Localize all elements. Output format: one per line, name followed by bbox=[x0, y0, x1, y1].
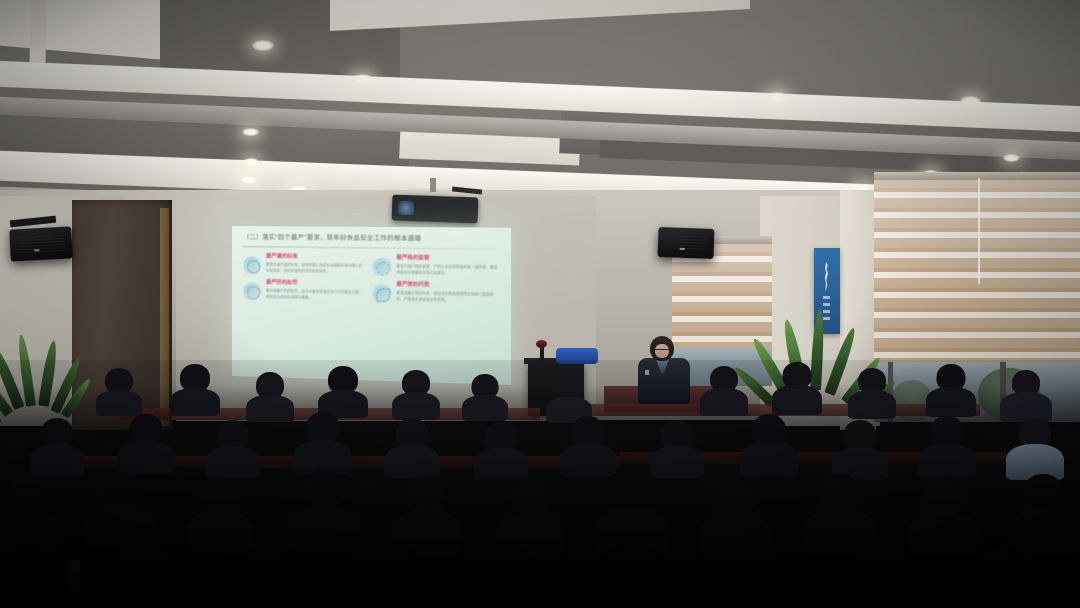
glasses-icon bbox=[655, 349, 669, 352]
audience-member bbox=[206, 420, 260, 478]
blind-rail bbox=[874, 172, 1080, 180]
audience-member bbox=[926, 364, 976, 416]
slide-item: 最严肃的问责 要坚持最严肃的问责，强化地方属地管理责任和部门监管责任，严格落实食… bbox=[372, 282, 499, 306]
slide-item-body: 要实施最严厉的处罚，加大对食品安全违法行为的惩处力度，提高违法成本形成强大震慑。 bbox=[266, 289, 364, 302]
audience-member bbox=[318, 366, 368, 416]
slide-item-heading: 最严肃的问责 bbox=[396, 283, 499, 291]
audience-member bbox=[700, 478, 770, 558]
water-bottle bbox=[68, 566, 80, 606]
audience-member bbox=[246, 372, 294, 420]
audience-member bbox=[30, 418, 84, 476]
slide-title: （二）落实"四个最严"要求，筑牢好食品安全工作的根本遵循 bbox=[243, 235, 499, 243]
slide-item-heading: 最严谨的标准 bbox=[266, 255, 364, 262]
speaker-led-icon bbox=[680, 248, 685, 250]
seated-audience bbox=[0, 360, 1080, 608]
speaker-led-icon bbox=[34, 249, 39, 251]
slide-item: 最严厉的处罚 要实施最严厉的处罚，加大对食品安全违法行为的惩处力度，提高违法成本… bbox=[243, 280, 364, 303]
slide-divider bbox=[243, 246, 499, 250]
audience-member bbox=[214, 548, 310, 608]
audience-member bbox=[460, 546, 558, 608]
audience-member bbox=[952, 546, 1052, 608]
audience-member bbox=[392, 370, 440, 418]
audience-member bbox=[918, 416, 976, 478]
magnifier-circle-icon bbox=[243, 256, 262, 275]
audience-member bbox=[96, 368, 142, 414]
light-blue-shirt-attendee bbox=[1006, 418, 1064, 480]
slide-item-body: 要坚持最严肃的问责，强化地方属地管理责任和部门监管责任，严格落实食品安全责任制。 bbox=[396, 291, 499, 304]
scales-circle-icon bbox=[372, 258, 392, 278]
audience-member bbox=[0, 476, 62, 552]
downlight-icon bbox=[1003, 154, 1020, 162]
ceiling-coffer-trim-right bbox=[330, 0, 750, 31]
audience-member bbox=[650, 420, 704, 478]
slide-item-body: 要建立最严谨的标准，加快构建以食品安全国家标准为核心的标准体系，强化标准的科学性… bbox=[266, 263, 364, 275]
slide-item-heading: 最严格的监管 bbox=[396, 256, 499, 263]
audience-member bbox=[462, 374, 508, 420]
downlight-icon bbox=[960, 96, 981, 106]
wall-speaker-left bbox=[9, 226, 73, 261]
wall-speaker-right bbox=[657, 227, 714, 259]
slide-item-grid: 最严谨的标准 要建立最严谨的标准，加快构建以食品安全国家标准为核心的标准体系，强… bbox=[243, 254, 499, 306]
speaker-grille bbox=[666, 235, 706, 250]
projector-ceiling-mount bbox=[430, 178, 436, 192]
audience-member bbox=[584, 542, 684, 608]
projector-lens-icon bbox=[398, 201, 414, 216]
speaker-grille bbox=[18, 235, 65, 253]
gavel-circle-icon bbox=[243, 282, 262, 301]
audience-member bbox=[334, 538, 438, 608]
microphone-head-icon bbox=[536, 340, 547, 348]
downlight-icon bbox=[252, 40, 274, 51]
audience-member bbox=[700, 366, 748, 414]
downlight-icon bbox=[243, 158, 259, 166]
slide-item-body: 要实行最严格的监管，严把从农田到餐桌的每一道防线，推进食品安全监管体系现代化建设… bbox=[396, 264, 499, 277]
conference-photo-scene: （二）落实"四个最严"要求，筑牢好食品安全工作的根本遵循 最严谨的标准 要建立最… bbox=[0, 0, 1080, 608]
audience-member bbox=[474, 422, 528, 480]
slide-item: 最严格的监管 要实行最严格的监管，严把从农田到餐桌的每一道防线，推进食品安全监管… bbox=[372, 256, 499, 279]
downlight-icon bbox=[241, 176, 257, 184]
audience-member bbox=[772, 362, 822, 414]
audience-member bbox=[294, 412, 352, 474]
audience-member bbox=[848, 368, 896, 418]
audience-member bbox=[186, 478, 254, 556]
downlight-icon bbox=[242, 128, 259, 136]
audience-member bbox=[170, 364, 220, 414]
audience-member bbox=[1000, 370, 1052, 422]
slide-item: 最严谨的标准 要建立最严谨的标准，加快构建以食品安全国家标准为核心的标准体系，强… bbox=[243, 254, 364, 277]
audience-member bbox=[92, 540, 192, 608]
downlight-icon bbox=[766, 92, 788, 103]
downlight-icon bbox=[352, 74, 373, 84]
audience-member bbox=[560, 416, 616, 476]
audience-member bbox=[118, 414, 174, 474]
audience-member bbox=[832, 420, 888, 480]
audience-member bbox=[384, 418, 440, 478]
sign-pictogram-icon bbox=[821, 262, 832, 292]
slide-item-heading: 最严厉的处罚 bbox=[266, 281, 364, 289]
audience-member bbox=[708, 548, 804, 608]
audience-member bbox=[828, 540, 930, 608]
audience-member bbox=[740, 414, 798, 476]
shield-circle-icon bbox=[372, 284, 392, 304]
audience-member bbox=[0, 546, 76, 608]
blind-cord[interactable] bbox=[978, 178, 980, 284]
